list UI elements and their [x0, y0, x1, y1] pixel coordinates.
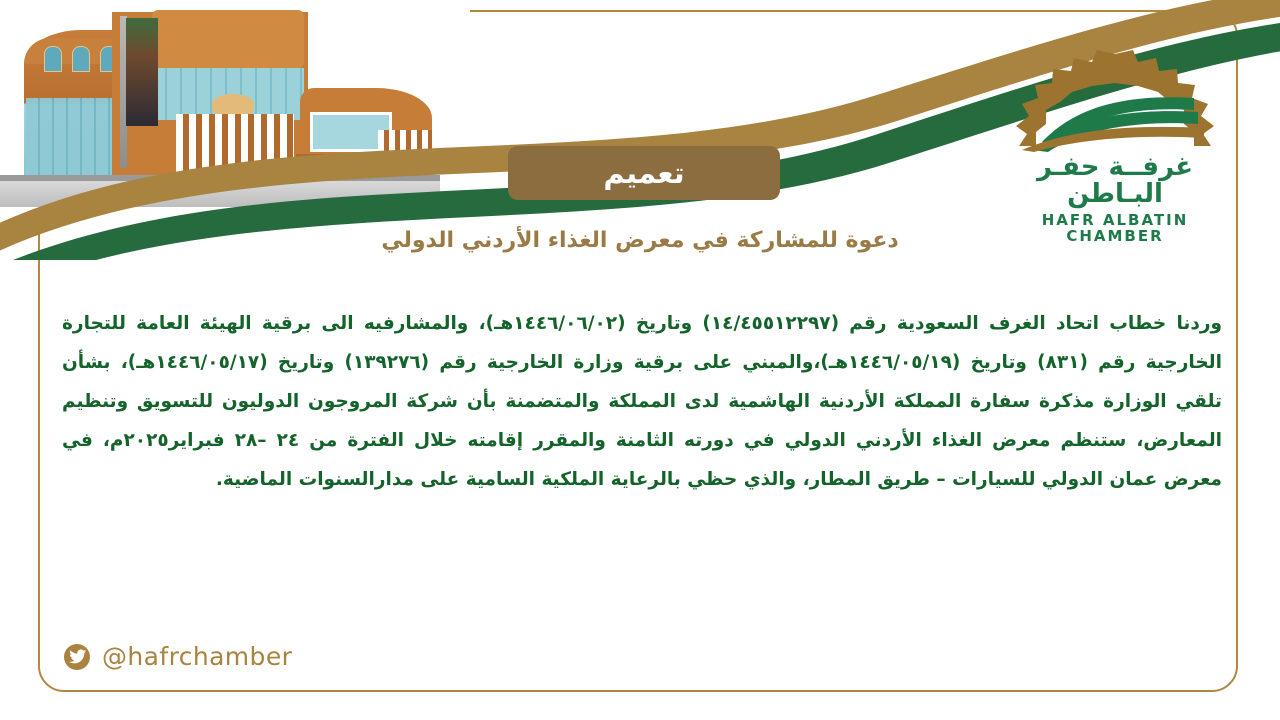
social-footer[interactable]: @hafrchamber	[64, 642, 292, 671]
logo-english-name: HAFR ALBATIN CHAMBER	[998, 212, 1232, 245]
gear-crest-icon	[998, 46, 1232, 152]
photo-portrait-banner	[126, 18, 158, 126]
announcement-page: تعميم غرفــة حفـر البـاطن HAFR ALBATIN C…	[0, 0, 1280, 720]
chamber-logo: غرفــة حفـر البـاطن HAFR ALBATIN CHAMBER	[998, 46, 1232, 200]
photo-road	[0, 181, 440, 207]
photo-tower-window	[72, 46, 90, 72]
chamber-building-photo	[0, 2, 440, 207]
announcement-body: وردنا خطاب اتحاد الغرف السعودية رقم (١٤/…	[62, 304, 1222, 499]
twitter-bird-glyph	[69, 649, 86, 664]
twitter-handle[interactable]: @hafrchamber	[102, 642, 292, 671]
photo-main-upper-band	[152, 10, 304, 68]
photo-tower-window	[44, 46, 62, 72]
photo-building-crest	[212, 94, 254, 114]
announcement-paragraph: وردنا خطاب اتحاد الغرف السعودية رقم (١٤/…	[62, 304, 1222, 499]
logo-arabic-name: غرفــة حفـر البـاطن	[998, 154, 1232, 209]
circular-banner: تعميم	[508, 146, 780, 200]
twitter-bird-icon[interactable]	[64, 644, 90, 670]
circular-banner-label: تعميم	[603, 159, 684, 188]
logo-mark	[998, 46, 1232, 152]
